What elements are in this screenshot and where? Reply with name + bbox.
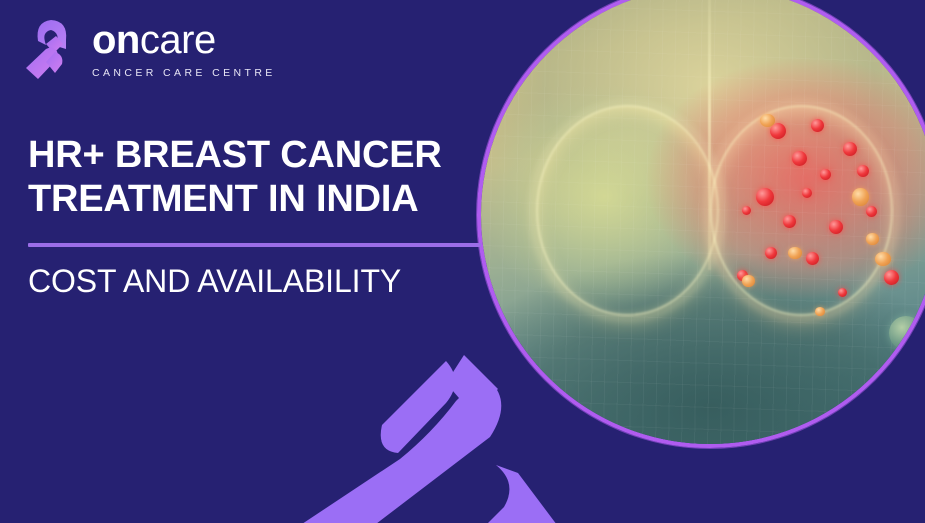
page-subtitle: COST AND AVAILABILITY bbox=[28, 263, 483, 299]
tumor-cell bbox=[806, 252, 819, 265]
tumor-cell bbox=[857, 165, 869, 177]
tumor-cluster bbox=[875, 252, 891, 266]
title-divider bbox=[28, 243, 481, 247]
wordmark-care: care bbox=[140, 18, 216, 62]
brand-wordmark: oncare bbox=[92, 20, 276, 60]
tumor-cell bbox=[802, 188, 812, 198]
tumor-cell bbox=[884, 270, 899, 285]
tumor-cell bbox=[742, 206, 751, 215]
tumor-cluster bbox=[742, 275, 755, 287]
tumor-cell bbox=[811, 119, 824, 132]
tumor-cluster bbox=[788, 247, 802, 259]
awareness-ribbon-icon bbox=[22, 16, 80, 82]
brand-logo[interactable]: oncare CANCER CARE CENTRE bbox=[22, 16, 276, 82]
tumor-cell bbox=[843, 142, 857, 156]
cell-structure bbox=[907, 352, 925, 374]
wordmark-on: on bbox=[92, 18, 140, 62]
medical-illustration-image bbox=[481, 0, 925, 444]
headline-block: HR+ BREAST CANCER TREATMENT IN INDIA COS… bbox=[28, 133, 483, 299]
tumor-cluster bbox=[815, 307, 825, 316]
left-breast-outline bbox=[536, 105, 719, 316]
brand-logotype: oncare CANCER CARE CENTRE bbox=[92, 20, 276, 79]
page-title: HR+ BREAST CANCER TREATMENT IN INDIA bbox=[28, 133, 483, 221]
tumor-cell bbox=[829, 220, 843, 234]
tumor-cell bbox=[756, 188, 774, 206]
tumor-cluster bbox=[866, 233, 879, 245]
brand-tagline: CANCER CARE CENTRE bbox=[92, 67, 276, 79]
medical-illustration-circle bbox=[477, 0, 925, 448]
tumor-cell bbox=[765, 247, 777, 259]
cell-structure bbox=[889, 316, 923, 350]
tumor-cell bbox=[866, 206, 877, 217]
tumor-cluster bbox=[852, 188, 869, 206]
promo-banner: oncare CANCER CARE CENTRE HR+ BREAST CAN… bbox=[0, 0, 925, 523]
